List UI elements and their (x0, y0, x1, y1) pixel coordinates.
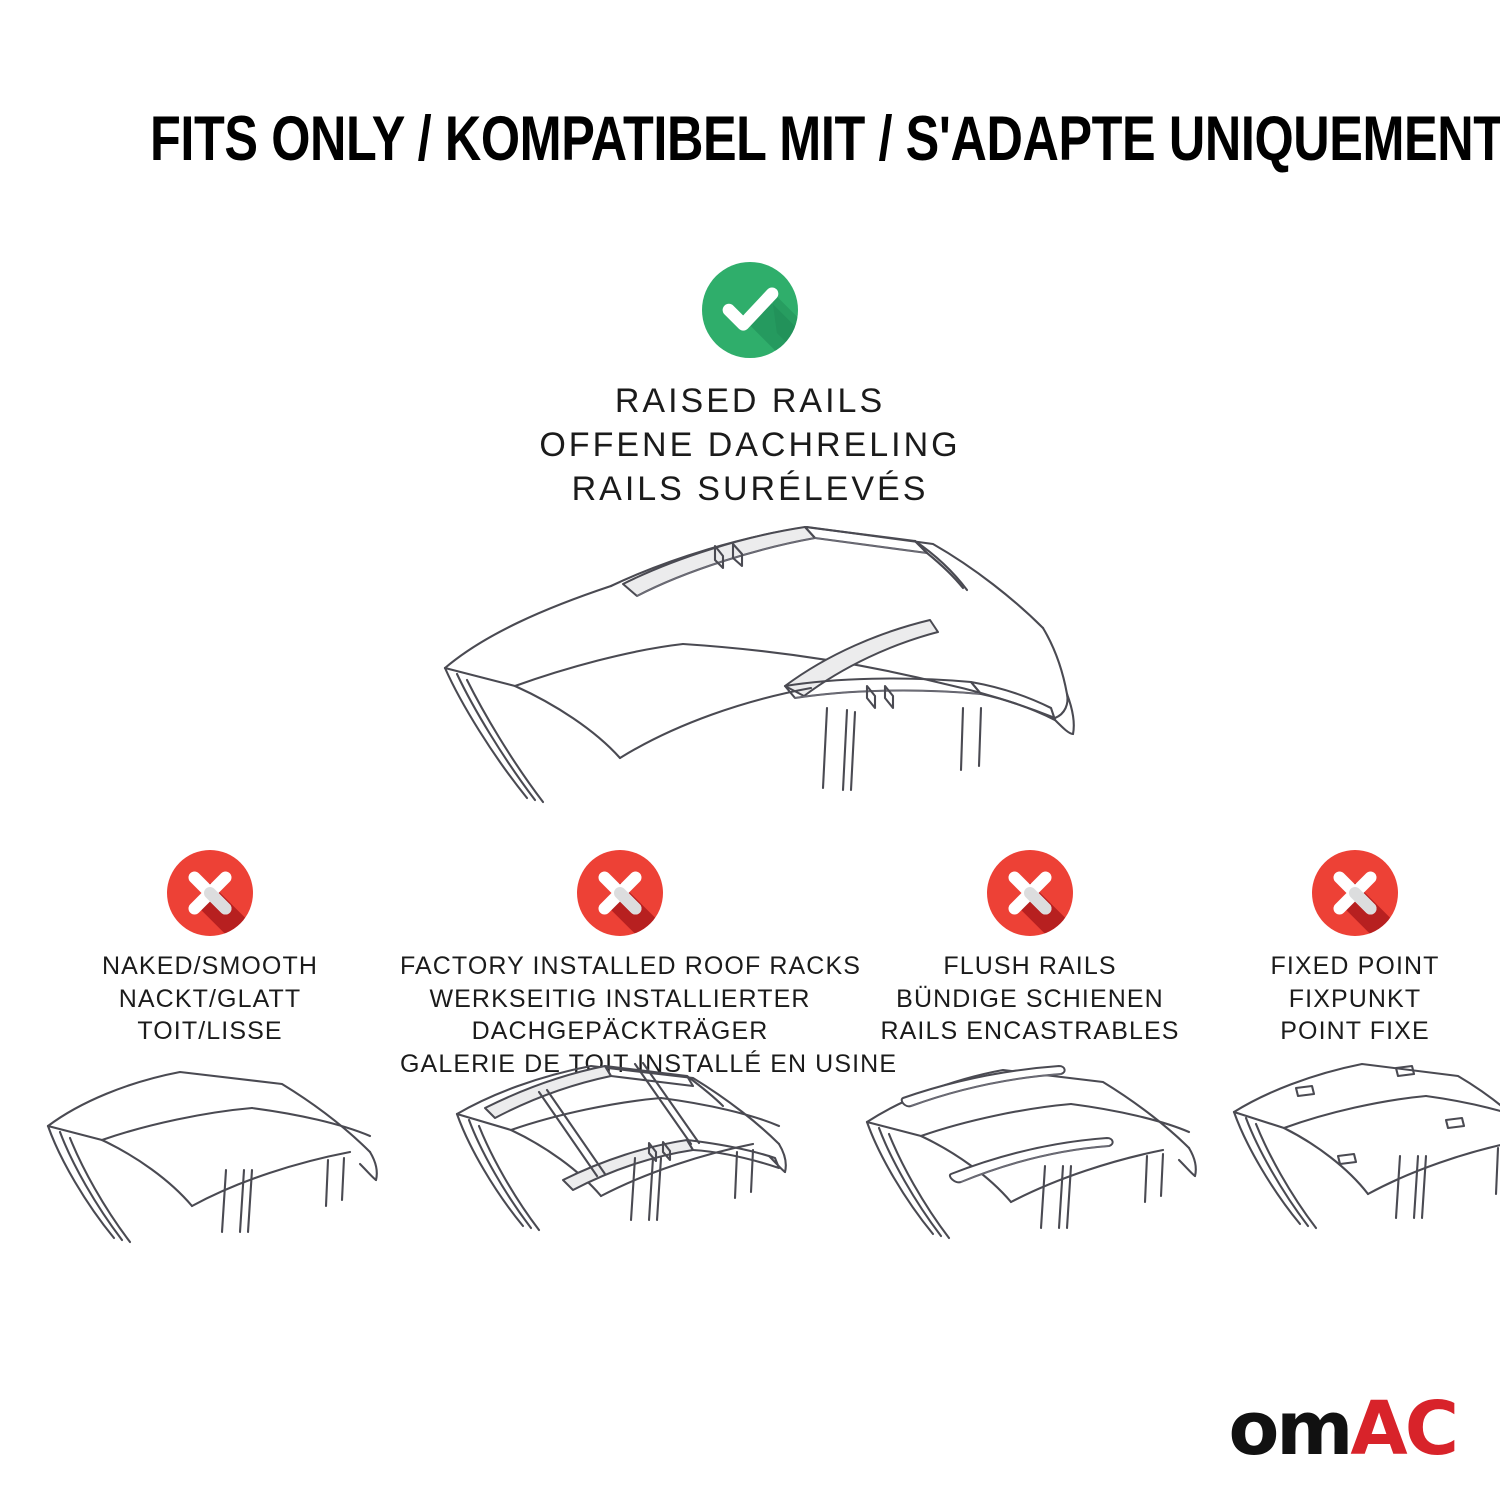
compatible-label-de: OFFENE DACHRELING (0, 424, 1500, 468)
cross-circle-icon (167, 850, 253, 936)
car-roof-naked-smooth-illustration (30, 1048, 390, 1268)
label-de-2: DACHGEPÄCKTRÄGER (400, 1015, 840, 1048)
label-fr: TOIT/LISSE (35, 1015, 385, 1048)
not-compatible-labels: FLUSH RAILS BÜNDIGE SCHIENEN RAILS ENCAS… (855, 950, 1205, 1048)
label-en: FIXED POINT (1220, 950, 1490, 983)
not-compatible-column-flush-rails: FLUSH RAILS BÜNDIGE SCHIENEN RAILS ENCAS… (855, 850, 1205, 1048)
car-roof-raised-rails-illustration (415, 508, 1105, 838)
not-compatible-labels: FIXED POINT FIXPUNKT POINT FIXE (1220, 950, 1490, 1048)
cross-circle-icon (577, 850, 663, 936)
cross-circle-icon (1312, 850, 1398, 936)
omac-logo: omAC (1228, 1392, 1456, 1466)
compatible-label-en: RAISED RAILS (0, 380, 1500, 424)
cross-circle-icon (987, 850, 1073, 936)
car-roof-flush-rails-illustration (845, 1048, 1215, 1268)
car-roof-factory-roof-racks-illustration (435, 1048, 805, 1268)
label-en: FLUSH RAILS (855, 950, 1205, 983)
car-roof-fixed-point-illustration (1218, 1048, 1500, 1268)
label-en: NAKED/SMOOTH (35, 950, 385, 983)
not-compatible-column-naked-smooth: NAKED/SMOOTH NACKT/GLATT TOIT/LISSE (35, 850, 385, 1048)
label-de: FIXPUNKT (1220, 983, 1490, 1016)
compatible-label-fr: RAILS SURÉLEVÉS (0, 468, 1500, 512)
not-compatible-column-fixed-point: FIXED POINT FIXPUNKT POINT FIXE (1220, 850, 1490, 1048)
compatible-labels: RAISED RAILS OFFENE DACHRELING RAILS SUR… (0, 380, 1500, 512)
logo-text-om: om (1228, 1386, 1350, 1472)
logo-text-ac: AC (1350, 1386, 1456, 1472)
label-de: BÜNDIGE SCHIENEN (855, 983, 1205, 1016)
label-en: FACTORY INSTALLED ROOF RACKS (400, 950, 840, 983)
compatible-section: RAISED RAILS OFFENE DACHRELING RAILS SUR… (0, 262, 1500, 512)
not-compatible-labels: NAKED/SMOOTH NACKT/GLATT TOIT/LISSE (35, 950, 385, 1048)
label-de: NACKT/GLATT (35, 983, 385, 1016)
label-de-1: WERKSEITIG INSTALLIERTER (400, 983, 840, 1016)
label-fr: POINT FIXE (1220, 1015, 1490, 1048)
not-compatible-column-factory-roof-racks: FACTORY INSTALLED ROOF RACKS WERKSEITIG … (400, 850, 840, 1080)
page-title: FITS ONLY / KOMPATIBEL MIT / S'ADAPTE UN… (150, 103, 1350, 175)
check-circle-icon (702, 262, 798, 358)
label-fr: RAILS ENCASTRABLES (855, 1015, 1205, 1048)
